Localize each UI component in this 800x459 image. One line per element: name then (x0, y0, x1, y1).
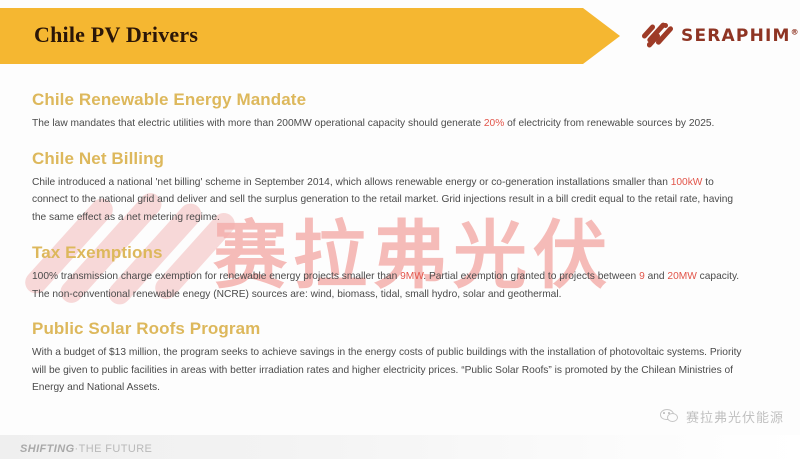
section-heading: Public Solar Roofs Program (32, 319, 800, 339)
section-body: The law mandates that electric utilities… (32, 115, 750, 133)
brand-name: SERAPHIM® (681, 26, 800, 46)
section-body: Chile introduced a national 'net billing… (32, 174, 750, 227)
wechat-icon (660, 409, 679, 424)
footer-tagline-rest: THE FUTURE (79, 443, 153, 455)
section-public-solar-roofs: Public Solar Roofs Program With a budget… (0, 319, 800, 397)
wechat-account-name: 赛拉弗光伏能源 (686, 407, 784, 426)
section-body: 100% transmission charge exemption for r… (32, 268, 750, 303)
brand-name-text: SERAPHIM (681, 26, 791, 46)
highlighted-value: 100kW (671, 177, 703, 188)
slide-header: Chile PV Drivers SERAPHIM® (0, 8, 800, 64)
page-title: Chile PV Drivers (34, 22, 198, 48)
seraphim-logo-icon (645, 22, 672, 49)
section-heading: Chile Net Billing (32, 149, 800, 169)
slide: 赛拉弗光伏 Chile PV Drivers SERAPHIM® Chile R… (0, 0, 800, 459)
section-tax-exemptions: Tax Exemptions 100% transmission charge … (0, 243, 800, 303)
highlighted-value: 20MW (667, 271, 696, 282)
highlighted-value: 9MW (400, 271, 423, 282)
footer-tagline-bold: SHIFTING (20, 443, 75, 455)
highlighted-value: 20% (484, 118, 504, 129)
section-body: With a budget of $13 million, the progra… (32, 344, 750, 397)
section-net-billing: Chile Net Billing Chile introduced a nat… (0, 149, 800, 227)
section-heading: Chile Renewable Energy Mandate (32, 90, 800, 110)
slide-content: Chile Renewable Energy Mandate The law m… (0, 78, 800, 399)
section-heading: Tax Exemptions (32, 243, 800, 263)
registered-mark: ® (791, 27, 800, 36)
wechat-watermark: 赛拉弗光伏能源 (660, 407, 784, 426)
footer-tagline: SHIFTING·THE FUTURE (20, 443, 152, 455)
section-renewable-energy-mandate: Chile Renewable Energy Mandate The law m… (0, 90, 800, 133)
brand-logo: SERAPHIM® (645, 22, 800, 49)
